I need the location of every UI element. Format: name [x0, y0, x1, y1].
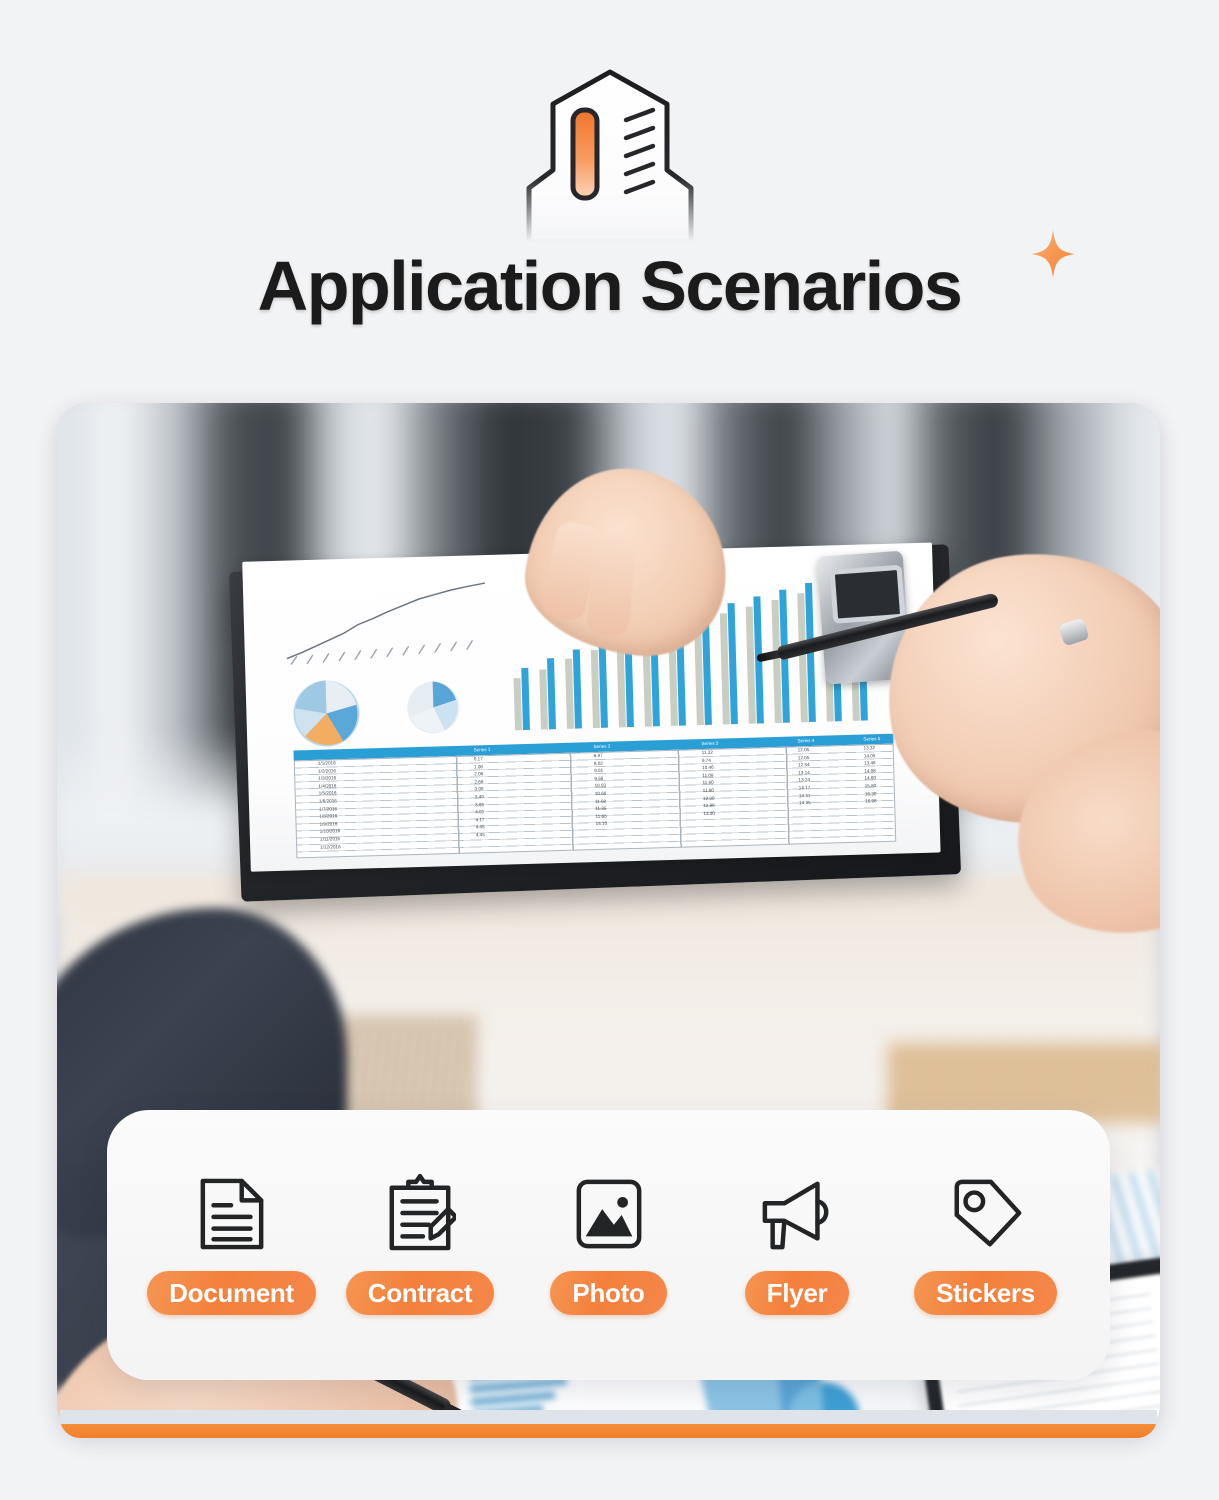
- report-table-cell: 1/12/2016: [320, 844, 341, 850]
- scenario-item-stickers[interactable]: Stickers: [896, 1175, 1076, 1315]
- report-table-cell: 14.05: [864, 753, 876, 758]
- report-table-cell: 3.65: [475, 802, 484, 807]
- report-table-cell: 1/5/2016: [319, 791, 337, 796]
- report-table-cell: 14.10: [596, 821, 608, 826]
- report-table-cell: 1/7/2016: [319, 806, 337, 811]
- report-table-cell: 12.05: [798, 747, 810, 752]
- report-table-cell: 12.05: [798, 755, 810, 760]
- report-table-text: 1/1/20160.176.9711.3212.0513.321/2/20161…: [294, 744, 897, 859]
- report-table-cell: 10.46: [702, 765, 714, 770]
- image-icon: [573, 1175, 645, 1253]
- report-table-cell: 1/8/2016: [319, 813, 337, 818]
- clipboard-pen-icon: [384, 1175, 456, 1253]
- report-pie-chart-2: [404, 678, 464, 738]
- report-table-cell: 4.17: [475, 817, 484, 822]
- report-table-column-header: Series 5: [863, 736, 880, 741]
- report-table-cell: 16.30: [865, 791, 877, 796]
- report-table-column-header: Series 1: [473, 747, 490, 752]
- report-table-cell: 1/11/2016: [320, 836, 340, 842]
- report-table-cell: 1/1/2016: [318, 760, 336, 765]
- report-table-cell: 13.30: [703, 811, 715, 816]
- accent-mask: [60, 1410, 1157, 1424]
- scenario-list: Document Contract Photo Flyer Stickers: [107, 1110, 1110, 1380]
- report-table-cell: 1/4/2016: [318, 783, 336, 788]
- report-table-cell: 8.02: [594, 760, 603, 765]
- report-table-column-header: Series 2: [593, 744, 610, 749]
- report-table-cell: 16.98: [865, 798, 877, 803]
- report-table-cell: 14.60: [864, 776, 876, 781]
- report-table-cell: 14.35: [799, 800, 811, 805]
- report-table-cell: 14.31: [799, 793, 811, 798]
- sparkle-icon: [1029, 228, 1077, 280]
- report-table-cell: 11.80: [703, 788, 714, 793]
- report-table-cell: 1/6/2016: [319, 798, 337, 803]
- scenario-label-pill[interactable]: Flyer: [745, 1271, 850, 1315]
- building-window-accent: [573, 110, 597, 198]
- report-table-cell: 9.01: [594, 768, 603, 773]
- building-outline: [529, 72, 691, 242]
- scenario-item-photo[interactable]: Photo: [519, 1175, 699, 1315]
- page-title: Application Scenarios: [258, 251, 962, 321]
- report-table-cell: 15.80: [865, 783, 877, 788]
- building-window-slats: [626, 110, 653, 192]
- report-table-cell: 10.03: [595, 783, 607, 788]
- report-table-cell: 13.24: [798, 777, 810, 782]
- report-table-cell: 1/10/2016: [320, 829, 341, 835]
- document-icon: [197, 1175, 267, 1253]
- scenario-card: Document Contract Photo Flyer Stickers: [107, 1110, 1110, 1380]
- report-table-cell: 11.60: [595, 814, 606, 819]
- report-table-cell: 10.60: [595, 791, 607, 796]
- report-table-cell: 0.17: [474, 756, 483, 761]
- logo-container: [0, 62, 1219, 237]
- page-header: Application Scenarios: [0, 0, 1219, 395]
- report-table-cell: 11.08: [702, 773, 713, 778]
- report-table-cell: 11.02: [595, 798, 606, 803]
- price-tag-icon: [947, 1175, 1025, 1253]
- report-table-cell: 11.60: [702, 780, 713, 785]
- report-table-cell: 4.01: [475, 809, 484, 814]
- report-table-cell: 1/3/2016: [318, 775, 336, 780]
- report-table-cell: 1/2/2016: [318, 768, 336, 773]
- report-table-cell: 3.09: [475, 787, 484, 792]
- office-building-icon: [495, 62, 725, 242]
- report-line-chart: [281, 579, 503, 667]
- report-table-cell: 13.32: [864, 745, 876, 750]
- scenario-label-pill[interactable]: Photo: [550, 1271, 666, 1315]
- report-table-column-header: Series 4: [797, 738, 814, 743]
- report-table-cell: 9.56: [594, 776, 603, 781]
- report-table-cell: 4.45: [476, 825, 485, 830]
- report-table-cell: 12.98: [703, 803, 715, 808]
- report-pie-chart-1: [289, 677, 363, 751]
- scenario-label-pill[interactable]: Document: [147, 1271, 316, 1315]
- scenario-label-pill[interactable]: Contract: [346, 1271, 495, 1315]
- report-table-cell: 9.74: [702, 757, 711, 762]
- report-data-table: 1/1/20160.176.9711.3212.0513.321/2/20161…: [293, 734, 896, 859]
- report-table-cell: 12.54: [798, 762, 810, 767]
- report-table-cell: 14.08: [864, 768, 876, 773]
- report-table-cell: 13.14: [798, 770, 810, 775]
- report-table-cell: 4.45: [476, 832, 485, 837]
- report-table-column-header: Series 3: [701, 741, 718, 746]
- report-table-cell: 1/9/2016: [319, 821, 337, 826]
- report-table-cell: 3.49: [475, 794, 484, 799]
- report-table-cell: 1.08: [474, 764, 483, 769]
- report-table-cell: 2.08: [474, 771, 483, 776]
- report-table-cell: 13.46: [864, 760, 876, 765]
- scenario-item-document[interactable]: Document: [142, 1175, 322, 1315]
- report-table-cell: 14.17: [799, 785, 811, 790]
- report-table-cell: 11.32: [702, 750, 713, 755]
- megaphone-icon: [757, 1175, 837, 1253]
- report-table-cell: 2.69: [474, 779, 483, 784]
- scenario-item-contract[interactable]: Contract: [330, 1175, 510, 1315]
- scenario-item-flyer[interactable]: Flyer: [707, 1175, 887, 1315]
- report-table-cell: 12.30: [703, 795, 715, 800]
- report-table-cell: 6.97: [594, 753, 603, 758]
- scenario-label-pill[interactable]: Stickers: [914, 1271, 1057, 1315]
- report-table-cell: 11.35: [595, 806, 606, 811]
